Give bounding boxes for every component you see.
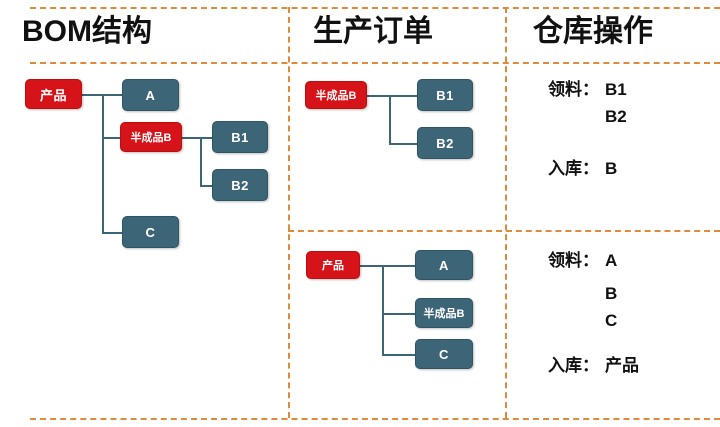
po1-node-semi-b-label: 半成品B: [316, 87, 357, 103]
bom-node-product-label: 产品: [40, 85, 67, 104]
bom-node-b2[interactable]: B2: [212, 169, 268, 201]
po2-node-semi-b[interactable]: 半成品B: [415, 298, 473, 328]
grid-line-top: [30, 7, 720, 9]
po2-connector-spine: [382, 265, 384, 354]
bom-connector-to-b2: [200, 185, 212, 187]
wh1-issue-item-0: B1: [605, 81, 627, 98]
po1-node-semi-b[interactable]: 半成品B: [305, 81, 367, 109]
bom-connector-spine: [102, 94, 104, 233]
po2-node-a-label: A: [439, 258, 449, 273]
wh2-issue-item-2: C: [605, 312, 617, 329]
po2-node-c-label: C: [439, 347, 449, 362]
po2-node-a[interactable]: A: [415, 250, 473, 280]
wh2-issue-item-0: A: [605, 252, 617, 269]
po2-connector-to-a: [382, 265, 415, 267]
po2-node-c[interactable]: C: [415, 339, 473, 369]
bom-connector-to-a: [102, 94, 122, 96]
po2-connector-to-c: [382, 354, 415, 356]
bom-connector-to-semib: [102, 137, 120, 139]
grid-divider-col2: [505, 7, 507, 418]
po1-connector-spine: [389, 95, 391, 143]
bom-node-b1[interactable]: B1: [212, 121, 268, 153]
wh2-receipt-label: 入库：: [548, 357, 599, 374]
po1-node-b2[interactable]: B2: [417, 127, 473, 159]
wh2-receipt-item-0: 产品: [605, 357, 639, 374]
po1-connector-to-b1: [389, 95, 417, 97]
bom-node-b1-label: B1: [231, 130, 249, 145]
diagram-canvas: BOM结构 生产订单 仓库操作 产品 A 半成品B B1 B2 C 半成品B B…: [0, 0, 720, 427]
bom-node-b2-label: B2: [231, 178, 249, 193]
bom-connector-root-stub: [82, 94, 102, 96]
po2-node-product[interactable]: 产品: [306, 251, 360, 279]
column-title-production: 生产订单: [313, 17, 433, 47]
column-title-bom: BOM结构: [22, 17, 152, 47]
wh1-issue-label: 领料：: [548, 81, 599, 98]
bom-node-semi-b-label: 半成品B: [131, 129, 172, 145]
grid-line-bottom: [30, 418, 720, 420]
bom-connector-semib-stub: [182, 137, 200, 139]
grid-divider-col1: [288, 7, 290, 418]
bom-node-a-label: A: [146, 88, 156, 103]
column-title-warehouse: 仓库操作: [533, 17, 653, 47]
wh1-receipt-item-0: B: [605, 160, 617, 177]
bom-node-product[interactable]: 产品: [25, 79, 82, 109]
bom-node-c-label: C: [146, 225, 156, 240]
bom-node-c[interactable]: C: [122, 216, 179, 248]
po1-node-b1-label: B1: [436, 88, 454, 103]
bom-connector-b-spine: [200, 137, 202, 185]
po1-connector-root-stub: [367, 95, 389, 97]
bom-connector-to-b1: [200, 137, 212, 139]
wh2-issue-item-1: B: [605, 285, 617, 302]
po2-node-semi-b-label: 半成品B: [424, 305, 465, 321]
wh1-receipt-label: 入库：: [548, 160, 599, 177]
po2-node-product-label: 产品: [322, 257, 344, 273]
po2-connector-root-stub: [360, 265, 382, 267]
wh1-issue-item-1: B2: [605, 108, 627, 125]
grid-line-middle: [288, 230, 720, 232]
po2-connector-to-semib: [382, 313, 415, 315]
po1-node-b1[interactable]: B1: [417, 79, 473, 111]
bom-connector-to-c: [102, 232, 122, 234]
bom-node-semi-b[interactable]: 半成品B: [120, 122, 182, 152]
po1-connector-to-b2: [389, 143, 417, 145]
po1-node-b2-label: B2: [436, 136, 454, 151]
wh2-issue-label: 领料：: [548, 252, 599, 269]
bom-node-a[interactable]: A: [122, 79, 179, 111]
grid-line-header: [30, 62, 720, 64]
